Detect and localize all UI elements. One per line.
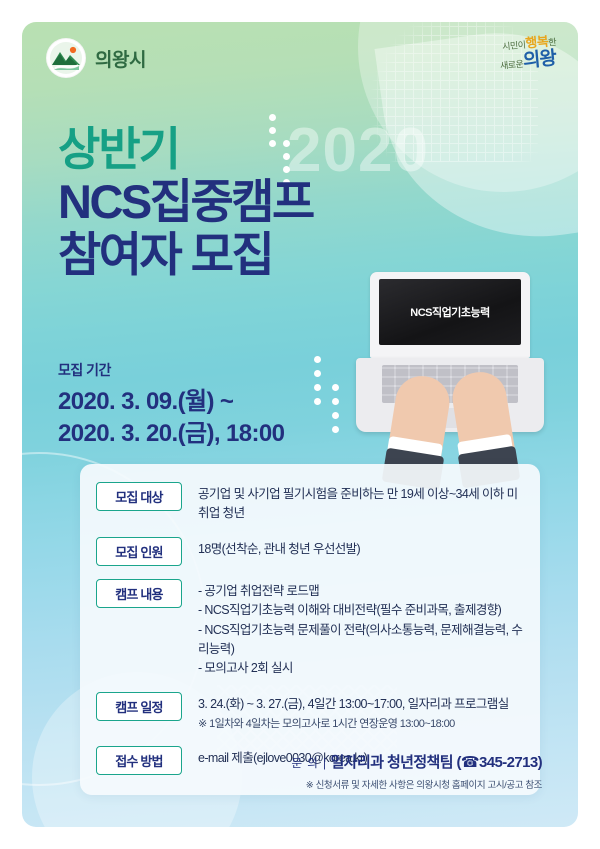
period-label: 모집 기간 bbox=[58, 360, 284, 380]
info-row: 모집 대상 공기업 및 사기업 필기시험을 준비하는 만 19세 이상~34세 … bbox=[96, 482, 524, 524]
info-row: 모집 인원 18명(선착순, 관내 청년 우선선발) bbox=[96, 537, 524, 566]
info-row: 캠프 내용 - 공기업 취업전략 로드맵 - NCS직업기초능력 이해와 대비전… bbox=[96, 579, 524, 679]
info-row-label: 모집 대상 bbox=[96, 482, 182, 511]
info-line: - 모의고사 2회 실시 bbox=[198, 659, 524, 678]
slogan-line2-small: 새로운 bbox=[500, 59, 524, 71]
slogan-suffix: 한 bbox=[548, 37, 557, 48]
contact-line: 문 의 | 일자리과 청년정책팀 (☎345-2713) bbox=[291, 751, 542, 772]
info-row-label: 접수 방법 bbox=[96, 746, 182, 775]
laptop-base bbox=[356, 358, 544, 432]
poster-root: 의왕시 시민이행복한 새로운의왕 2020 bbox=[0, 0, 600, 849]
title-line-1: 상반기 bbox=[58, 126, 313, 172]
period-start: 2020. 3. 09.(월) ~ bbox=[58, 386, 284, 418]
info-row-label: 모집 인원 bbox=[96, 537, 182, 566]
info-row-label: 캠프 일정 bbox=[96, 692, 182, 721]
uiwang-city-emblem-icon bbox=[46, 38, 86, 78]
laptop-screen: NCS직업기초능력 bbox=[379, 279, 521, 345]
info-line: - NCS직업기초능력 이해와 대비전략(필수 준비과목, 출제경향) bbox=[198, 601, 524, 620]
title-line-2: NCS집중캠프 bbox=[58, 178, 313, 225]
laptop-lid: NCS직업기초능력 bbox=[370, 272, 530, 358]
info-line: 18명(선착순, 관내 청년 우선선발) bbox=[198, 540, 524, 559]
info-line: 3. 24.(화) ~ 3. 27.(금), 4일간 13:00~17:00, … bbox=[198, 695, 524, 714]
poster-canvas: 의왕시 시민이행복한 새로운의왕 2020 bbox=[22, 22, 578, 827]
info-row: 캠프 일정 3. 24.(화) ~ 3. 27.(금), 4일간 13:00~1… bbox=[96, 692, 524, 733]
contact-prefix: 문 의 | bbox=[291, 758, 327, 770]
footer-note: ※ 신청서류 및 자세한 사항은 의왕시청 홈페이지 고시/공고 참조 bbox=[291, 777, 542, 791]
period-end: 2020. 3. 20.(금), 18:00 bbox=[58, 418, 284, 450]
laptop-illustration: NCS직업기초능력 bbox=[352, 272, 548, 452]
poster-header: 의왕시 시민이행복한 새로운의왕 bbox=[22, 22, 578, 94]
info-line: 공기업 및 사기업 필기시험을 준비하는 만 19세 이상~34세 이하 미취업… bbox=[198, 485, 524, 524]
info-row-value: 3. 24.(화) ~ 3. 27.(금), 4일간 13:00~17:00, … bbox=[198, 692, 524, 733]
city-logo: 의왕시 bbox=[46, 38, 146, 78]
info-line: - 공기업 취업전략 로드맵 bbox=[198, 582, 524, 601]
recruitment-period: 모집 기간 2020. 3. 09.(월) ~ 2020. 3. 20.(금),… bbox=[58, 360, 284, 451]
city-slogan: 시민이행복한 새로운의왕 bbox=[436, 34, 556, 82]
dot-cluster-middle-decoration bbox=[314, 356, 354, 446]
info-row-value: 18명(선착순, 관내 청년 우선선발) bbox=[198, 537, 524, 559]
info-row-value: - 공기업 취업전략 로드맵 - NCS직업기초능력 이해와 대비전략(필수 준… bbox=[198, 579, 524, 679]
laptop-screen-text: NCS직업기초능력 bbox=[410, 304, 489, 320]
info-panel: 모집 대상 공기업 및 사기업 필기시험을 준비하는 만 19세 이상~34세 … bbox=[80, 464, 540, 795]
poster-footer: 문 의 | 일자리과 청년정책팀 (☎345-2713) ※ 신청서류 및 자세… bbox=[291, 751, 542, 791]
info-line: - NCS직업기초능력 문제풀이 전략(의사소통능력, 문제해결능력, 수리능력… bbox=[198, 621, 524, 660]
poster-title: 상반기 NCS집중캠프 참여자 모집 bbox=[58, 126, 313, 278]
slogan-line2-big: 의왕 bbox=[522, 48, 557, 72]
info-row-label: 캠프 내용 bbox=[96, 579, 182, 608]
city-logo-text: 의왕시 bbox=[95, 45, 146, 72]
info-row-value: 공기업 및 사기업 필기시험을 준비하는 만 19세 이상~34세 이하 미취업… bbox=[198, 482, 524, 524]
info-row-note: ※ 1일차와 4일차는 모의고사로 1시간 연장운영 13:00~18:00 bbox=[198, 716, 524, 733]
title-line-3: 참여자 모집 bbox=[58, 231, 313, 278]
contact-main: 일자리과 청년정책팀 (☎345-2713) bbox=[331, 754, 542, 771]
